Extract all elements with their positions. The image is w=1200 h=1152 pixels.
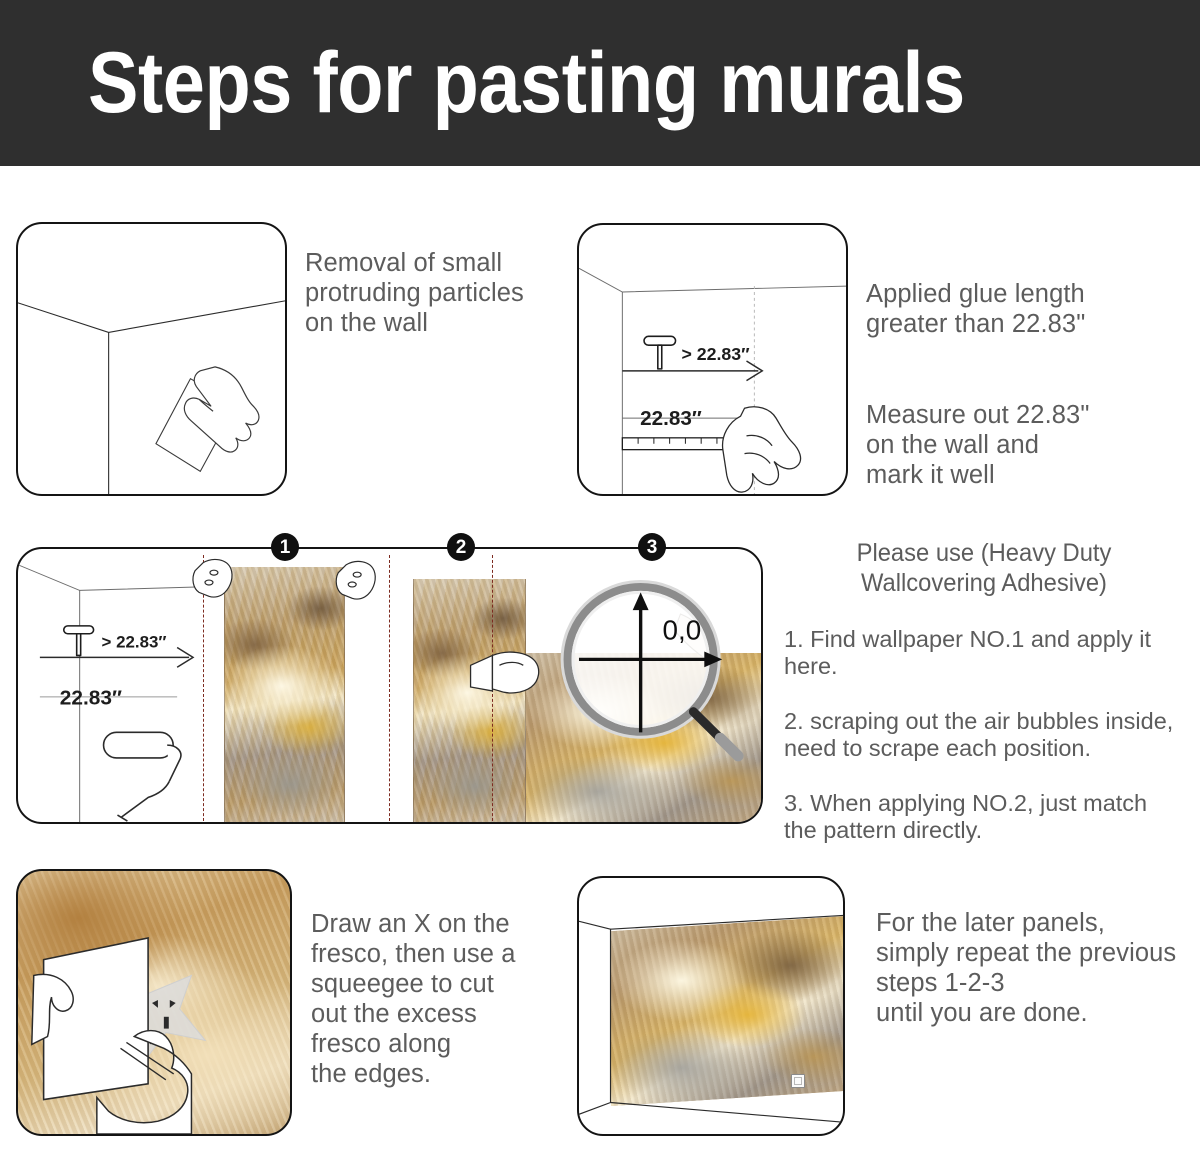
measure-wall-illustration: > 22.83″ 22.83″: [579, 225, 846, 494]
x-cut-squeegee-illustration: [18, 871, 290, 1134]
hands-and-magnifier-overlay: 0,0: [18, 549, 761, 822]
panel-repeat-panels: [577, 876, 845, 1136]
origin-label: 0,0: [663, 615, 702, 646]
instruction-sheet: Steps for pasting murals Removal of smal…: [0, 0, 1200, 1152]
badge-step-2: 2: [447, 533, 475, 561]
panel-trim-edges: [16, 869, 292, 1136]
badge-step-3: 3: [638, 533, 666, 561]
adhesive-note: Please use (Heavy Duty Wallcovering Adhe…: [794, 538, 1174, 598]
instruction-step-3: 3. When applying NO.2, just match the pa…: [784, 790, 1184, 844]
page-header: Steps for pasting murals: [0, 0, 1200, 166]
page-title: Steps for pasting murals: [88, 40, 965, 126]
panel-prepare-wall: [16, 222, 287, 496]
measure-length-label: 22.83″: [640, 407, 702, 430]
wall-corner-scrape-illustration: [18, 224, 285, 494]
caption-glue-length: Applied glue length greater than 22.83": [866, 279, 1166, 339]
instructions-block: Please use (Heavy Duty Wallcovering Adhe…: [784, 538, 1184, 844]
caption-trim-edges: Draw an X on the fresco, then use a sque…: [311, 909, 561, 1089]
panel-measure-wall: > 22.83″ 22.83″: [577, 223, 848, 496]
instruction-step-1: 1. Find wallpaper NO.1 and apply it here…: [784, 626, 1184, 680]
caption-repeat-panels: For the later panels, simply repeat the …: [876, 908, 1196, 1028]
badge-step-1: 1: [271, 533, 299, 561]
room-perspective-lines: [579, 878, 843, 1134]
caption-measure-mark: Measure out 22.83" on the wall and mark …: [866, 400, 1166, 490]
instruction-step-2: 2. scraping out the air bubbles inside, …: [784, 708, 1184, 762]
caption-prepare-wall: Removal of small protruding particles on…: [305, 248, 555, 338]
glue-length-label: > 22.83″: [681, 344, 750, 364]
panel-apply-panels: > 22.83″ 22.83″: [16, 547, 763, 824]
